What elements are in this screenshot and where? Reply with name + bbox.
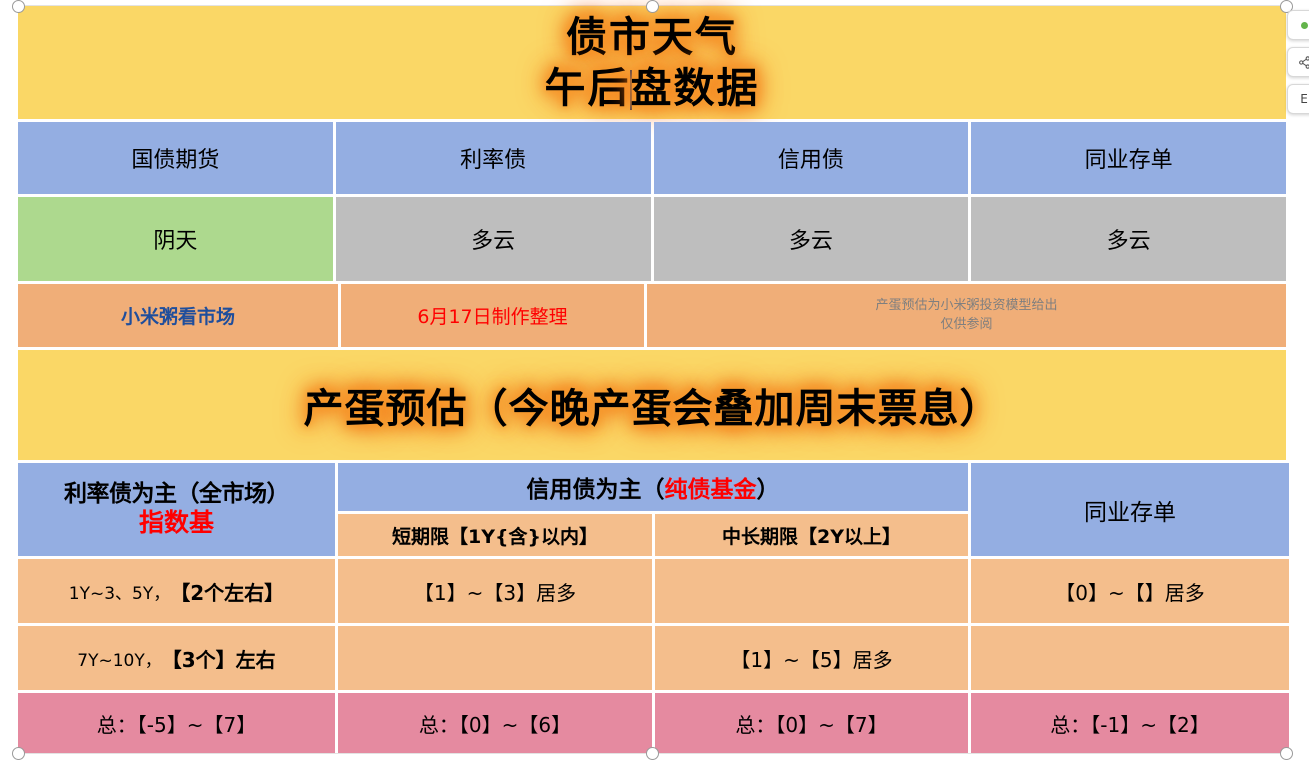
credit-strip: 小米粥看市场 6月17日制作整理 产蛋预估为小米粥投资模型给出 仅供参阅 (18, 284, 1286, 347)
selection-handle-bottom-right[interactable] (1280, 747, 1293, 760)
egg-estimate-title: 产蛋预估（今晚产蛋会叠加周末票息） (304, 376, 1001, 434)
table-header-credit-red: 纯债基金 (665, 470, 757, 504)
weather-header-credit-bonds: 信用债 (654, 122, 969, 194)
table-row: 1Y~3、5Y，【2个左右】 (18, 559, 335, 623)
credit-author-cell: 小米粥看市场 (18, 284, 338, 347)
total-credit-short: 总：【0】~【6】 (338, 693, 652, 753)
weather-value-credit-bonds: 多云 (654, 197, 969, 281)
table-header-credit-prefix: 信用债为主（ (527, 470, 665, 504)
credit-note-cell: 产蛋预估为小米粥投资模型给出 仅供参阅 (647, 284, 1286, 347)
weather-value-ncd: 多云 (971, 197, 1286, 281)
rate-row1-value: 【2个左右】 (170, 577, 284, 606)
weather-value-treasury-futures: 阴天 (18, 197, 333, 281)
floating-toolbar: E (1287, 10, 1309, 114)
selection-handle-bottom-center[interactable] (646, 747, 659, 760)
weather-header-row: 国债期货 利率债 信用债 同业存单 (18, 122, 1286, 194)
credit-date: 6月17日制作整理 (417, 302, 567, 329)
selection-handle-top-left[interactable] (12, 0, 25, 13)
credit-long-row1 (655, 559, 968, 623)
rate-row2-tenor: 7Y~10Y， (77, 646, 161, 671)
slide-canvas: 债市天气午后盘数据 国债期货 利率债 信用债 同业存单 阴天 多云 多云 多云 … (0, 0, 1309, 765)
total-ncd: 总：【-1】~【2】 (971, 693, 1289, 753)
disclaimer-note: 产蛋预估为小米粥投资模型给出 仅供参阅 (875, 297, 1057, 335)
total-credit-long: 总：【0】~【7】 (655, 693, 968, 753)
estimate-table: 利率债为主（全市场） 指数基 信用债为主（纯债基金） 同业存单 短期限【1Y{含… (18, 463, 1286, 754)
board-title-line1: 债市天气 (566, 13, 738, 61)
table-header-rate-bonds: 利率债为主（全市场） 指数基 (18, 463, 335, 556)
credit-date-cell: 6月17日制作整理 (341, 284, 644, 347)
credit-short-row2 (338, 626, 652, 690)
weather-header-treasury-futures: 国债期货 (18, 122, 333, 194)
table-header-rate-bonds-line1: 利率债为主（全市场） (64, 481, 289, 507)
weather-value-row: 阴天 多云 多云 多云 (18, 197, 1286, 281)
ncd-row1: 【0】~【】居多 (971, 559, 1289, 623)
status-dot-icon (1301, 22, 1308, 29)
bond-market-weather-board: 债市天气午后盘数据 国债期货 利率债 信用债 同业存单 阴天 多云 多云 多云 … (18, 6, 1286, 754)
table-header-ncd: 同业存单 (971, 463, 1289, 556)
table-subheader-short-tenor: 短期限【1Y{含}以内】 (338, 514, 652, 556)
selection-handle-bottom-left[interactable] (12, 747, 25, 760)
table-header-credit-bonds: 信用债为主（纯债基金） (338, 463, 968, 511)
credit-long-row2: 【1】~【5】居多 (655, 626, 968, 690)
credit-short-row1: 【1】~【3】居多 (338, 559, 652, 623)
table-subheader-long-tenor: 中长期限【2Y以上】 (655, 514, 968, 556)
ncd-row2 (971, 626, 1289, 690)
table-header-rate-bonds-line2: 指数基 (139, 509, 214, 538)
egg-estimate-banner: 产蛋预估（今晚产蛋会叠加周末票息） (18, 350, 1286, 460)
title-banner: 债市天气午后盘数据 (18, 6, 1286, 119)
total-rate-bonds: 总：【-5】~【7】 (18, 693, 335, 753)
text-tool-glyph: E (1300, 92, 1308, 106)
table-row: 7Y~10Y，【3个】左右 (18, 626, 335, 690)
presentation-status-icon[interactable] (1287, 10, 1309, 40)
board-title: 债市天气午后盘数据 (545, 12, 760, 112)
weather-header-ncd: 同业存单 (971, 122, 1286, 194)
rate-row1-tenor: 1Y~3、5Y， (69, 579, 170, 604)
weather-header-rate-bonds: 利率债 (336, 122, 651, 194)
credit-author: 小米粥看市场 (121, 302, 235, 329)
text-tool-icon[interactable]: E (1287, 84, 1309, 114)
selection-handle-top-center[interactable] (646, 0, 659, 13)
share-icon[interactable] (1287, 47, 1309, 77)
board-title-line2-part2: 盘数据 (631, 64, 760, 112)
weather-value-rate-bonds: 多云 (336, 197, 651, 281)
rate-row2-value: 【3个】左右 (162, 644, 276, 673)
table-header-credit-suffix: ） (757, 470, 780, 504)
board-title-line2-part1: 午后 (545, 64, 631, 112)
